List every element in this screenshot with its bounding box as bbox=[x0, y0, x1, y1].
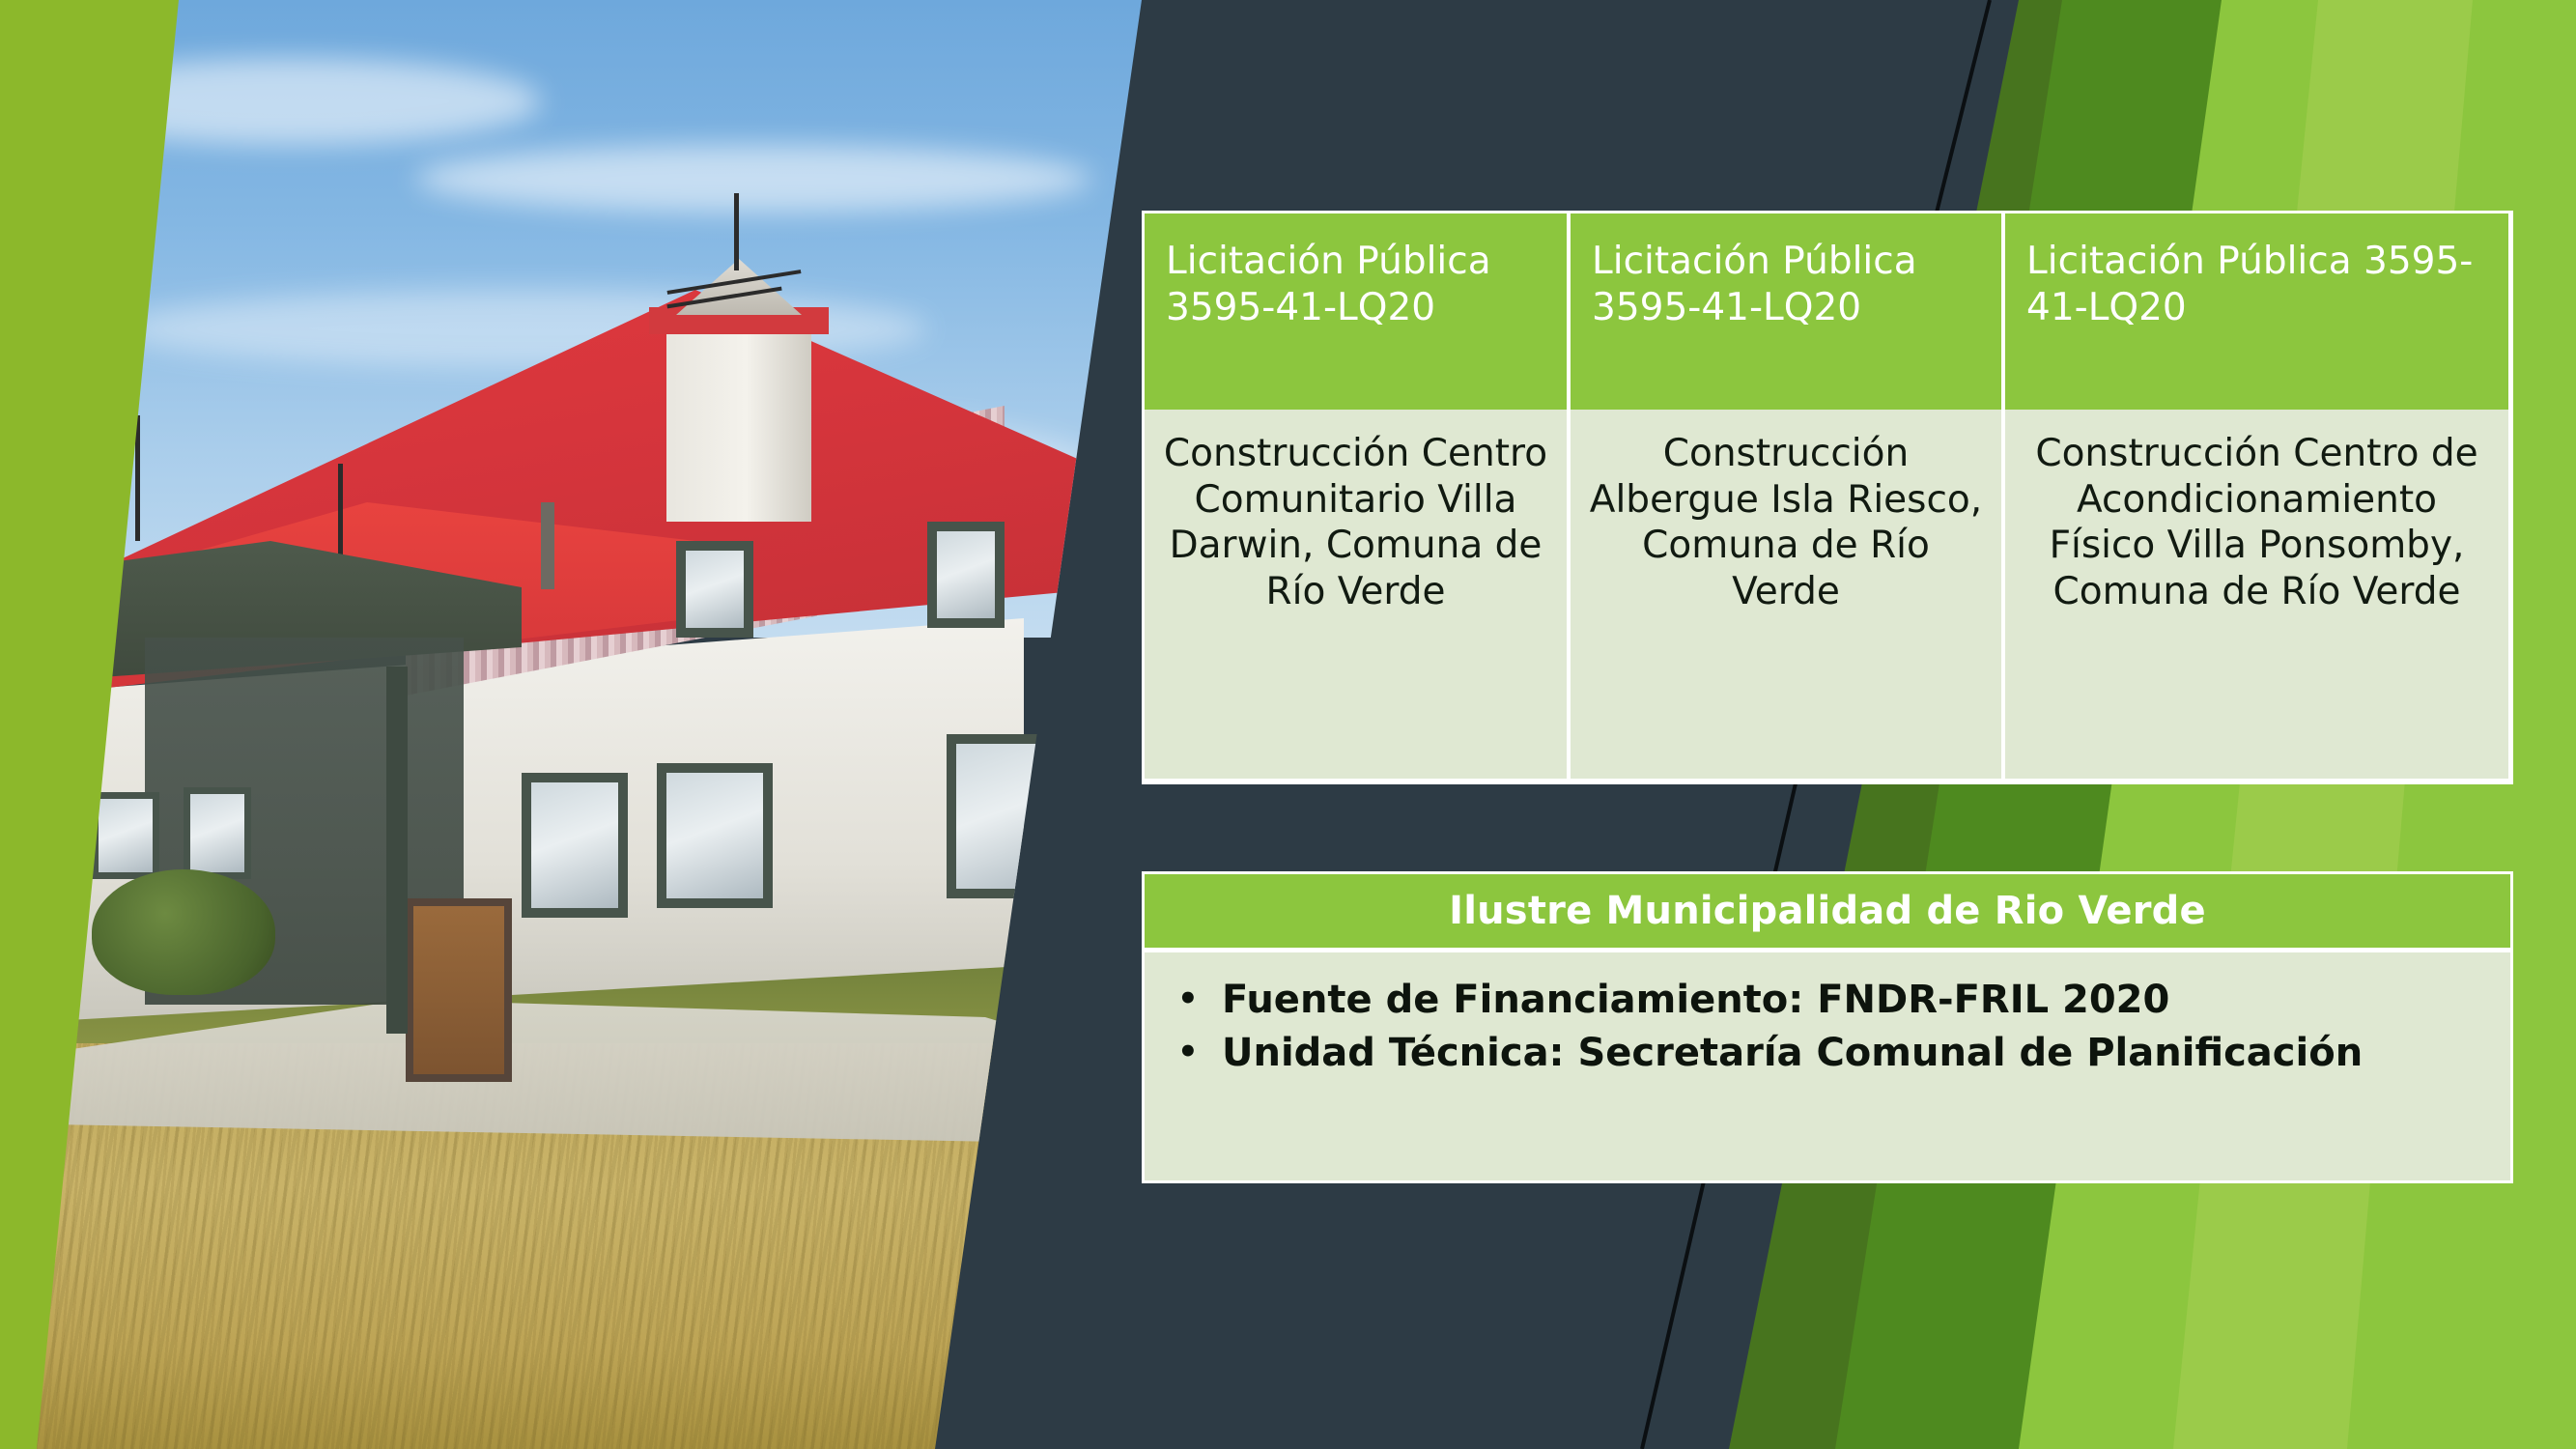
municipality-info-table: Ilustre Municipalidad de Rio Verde • Fue… bbox=[1142, 871, 2513, 1183]
window-small bbox=[92, 792, 159, 879]
list-item-label: Fuente de Financiamiento: FNDR-FRIL 2020 bbox=[1222, 976, 2169, 1025]
tender-table: Licitación Pública 3595-41-LQ20 Licitaci… bbox=[1142, 211, 2513, 784]
bullet-icon: • bbox=[1177, 976, 1222, 1023]
roof-tower bbox=[666, 319, 811, 522]
municipality-title: Ilustre Municipalidad de Rio Verde bbox=[1145, 874, 2510, 948]
tender-description-cell-3: Construcción Centro de Acondicionamiento… bbox=[2005, 410, 2508, 779]
porch-post bbox=[386, 667, 408, 1034]
tender-header-cell-3: Licitación Pública 3595-41-LQ20 bbox=[2005, 213, 2508, 410]
tender-header-cell-2: Licitación Pública 3595-41-LQ20 bbox=[1571, 213, 2001, 410]
list-item-label: Unidad Técnica: Secretaría Comunal de Pl… bbox=[1222, 1029, 2363, 1078]
tender-table-header-row: Licitación Pública 3595-41-LQ20 Licitaci… bbox=[1142, 211, 2513, 410]
window-upper bbox=[676, 541, 753, 638]
window bbox=[657, 763, 773, 908]
list-item: • Fuente de Financiamiento: FNDR-FRIL 20… bbox=[1177, 976, 2477, 1025]
chimney bbox=[541, 502, 554, 589]
tender-description-cell-2: Construcción Albergue Isla Riesco, Comun… bbox=[1571, 410, 2001, 779]
municipality-bullet-list: • Fuente de Financiamiento: FNDR-FRIL 20… bbox=[1145, 952, 2510, 1180]
list-item: • Unidad Técnica: Secretaría Comunal de … bbox=[1177, 1029, 2477, 1078]
tender-table-body-row: Construcción Centro Comunitario Villa Da… bbox=[1142, 410, 2513, 781]
window-small bbox=[184, 787, 251, 879]
tender-description-cell-1: Construcción Centro Comunitario Villa Da… bbox=[1145, 410, 1567, 779]
cloud-shape bbox=[415, 145, 1091, 213]
window bbox=[522, 773, 628, 918]
antenna-mast bbox=[734, 193, 739, 270]
entrance-door bbox=[406, 898, 512, 1082]
tender-header-cell-1: Licitación Pública 3595-41-LQ20 bbox=[1145, 213, 1567, 410]
bullet-icon: • bbox=[1177, 1029, 1222, 1076]
window-upper bbox=[927, 522, 1005, 628]
shrub bbox=[92, 869, 275, 995]
presentation-slide: Licitación Pública 3595-41-LQ20 Licitaci… bbox=[0, 0, 2576, 1449]
